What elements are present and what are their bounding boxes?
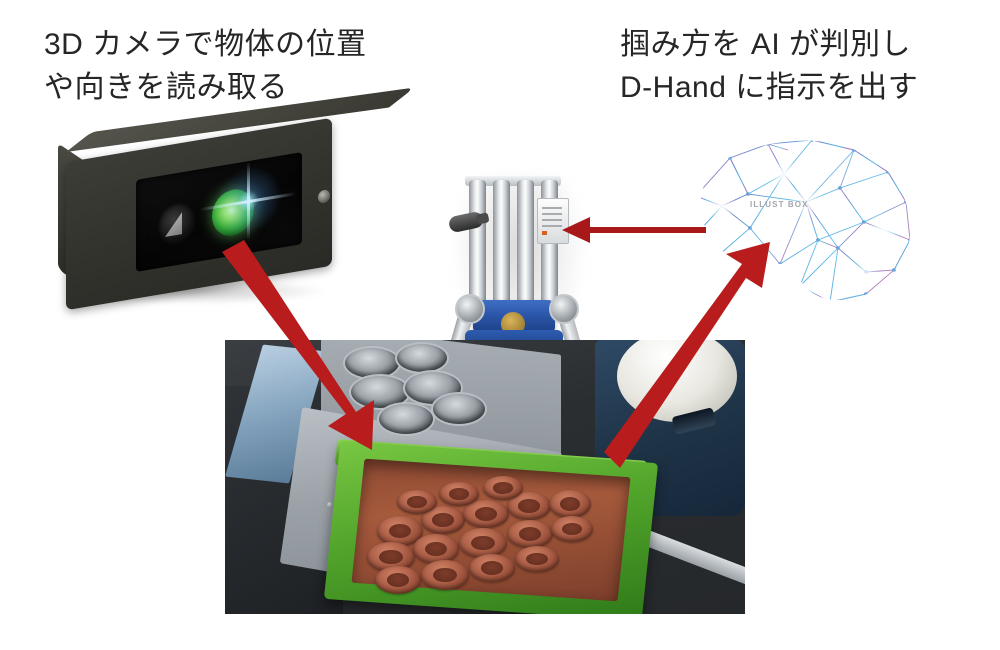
part-ring — [397, 490, 437, 514]
part-ring — [459, 528, 507, 558]
plate-rivet — [327, 502, 333, 508]
gripper-joint — [455, 294, 485, 324]
brain-watermark: ILLUST BOX — [750, 200, 809, 209]
part-ring — [469, 554, 515, 582]
pneumatic-cylinder — [517, 180, 534, 316]
pneumatic-cylinder — [469, 180, 486, 308]
part-ring — [421, 560, 469, 590]
part-ring — [483, 476, 523, 500]
diagram-canvas: 3D カメラで物体の位置 や向きを読み取る 掴み方を AI が判別し D-Han… — [0, 0, 1000, 650]
steel-ring-part — [431, 392, 487, 426]
part-ring — [551, 516, 593, 542]
camera-lens-icon — [158, 200, 196, 248]
part-ring — [507, 520, 553, 548]
part-ring — [549, 490, 591, 518]
part-ring — [375, 566, 421, 594]
arrow-camera-to-bin — [196, 236, 436, 476]
part-ring — [413, 534, 459, 564]
caption-ai: 掴み方を AI が判別し D-Hand に指示を出す — [620, 24, 918, 109]
part-ring — [515, 546, 559, 572]
pneumatic-cylinder — [493, 180, 510, 316]
arrow-brain-to-hand — [556, 212, 712, 252]
caption-camera: 3D カメラで物体の位置 や向きを読み取る — [44, 24, 367, 109]
part-ring — [463, 500, 509, 528]
gripper-joint — [549, 294, 579, 324]
arrow-bin-to-brain — [596, 240, 796, 480]
part-ring — [439, 482, 479, 506]
